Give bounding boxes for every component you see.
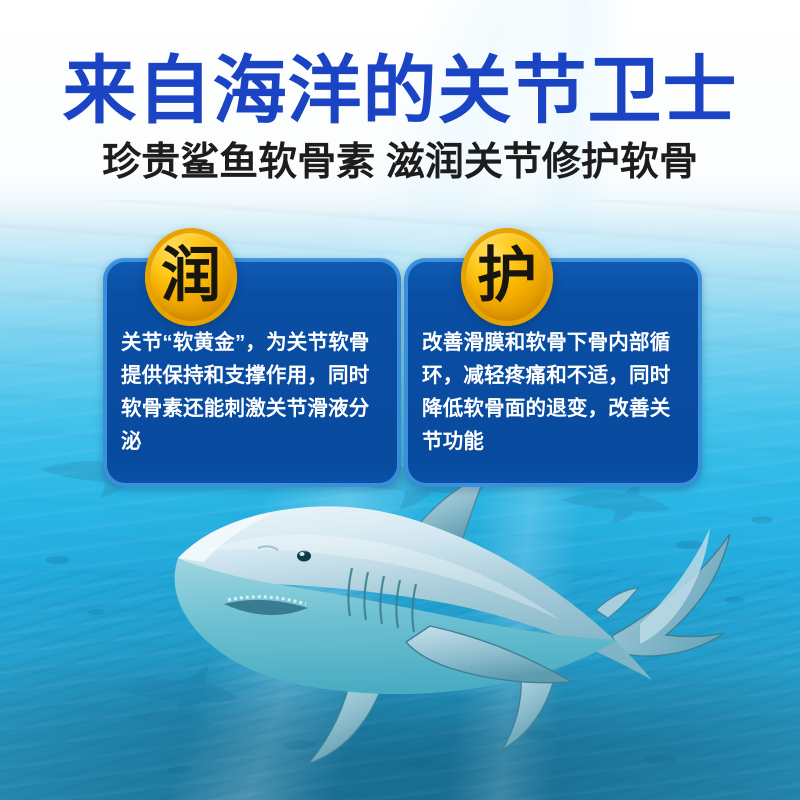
feature-card-body: 改善滑膜和软骨下骨内部循环，减轻疼痛和不适，同时降低软骨面的退变，改善关节功能 [422, 326, 686, 458]
badge-character: 润 [161, 246, 221, 306]
badge-character: 护 [477, 246, 537, 306]
feature-badge-lubricate: 润 [145, 228, 237, 326]
feature-card-body: 关节“软黄金”，为关节软骨提供保持和支撑作用，同时软骨素还能刺激关节滑液分泌 [121, 326, 385, 458]
feature-badge-protect: 护 [461, 228, 553, 326]
poster-header: 来自海洋的关节卫士 珍贵鲨鱼软骨素 滋润关节修护软骨 [0, 0, 800, 186]
page-title: 来自海洋的关节卫士 [0, 0, 800, 134]
feature-card-protect: 改善滑膜和软骨下骨内部循环，减轻疼痛和不适，同时降低软骨面的退变，改善关节功能 [404, 258, 702, 487]
feature-card-group: 关节“软黄金”，为关节软骨提供保持和支撑作用，同时软骨素还能刺激关节滑液分泌 改… [0, 258, 800, 490]
product-poster: 来自海洋的关节卫士 珍贵鲨鱼软骨素 滋润关节修护软骨 关节“软黄金”，为关节软骨… [0, 0, 800, 800]
page-subtitle: 珍贵鲨鱼软骨素 滋润关节修护软骨 [0, 134, 800, 186]
